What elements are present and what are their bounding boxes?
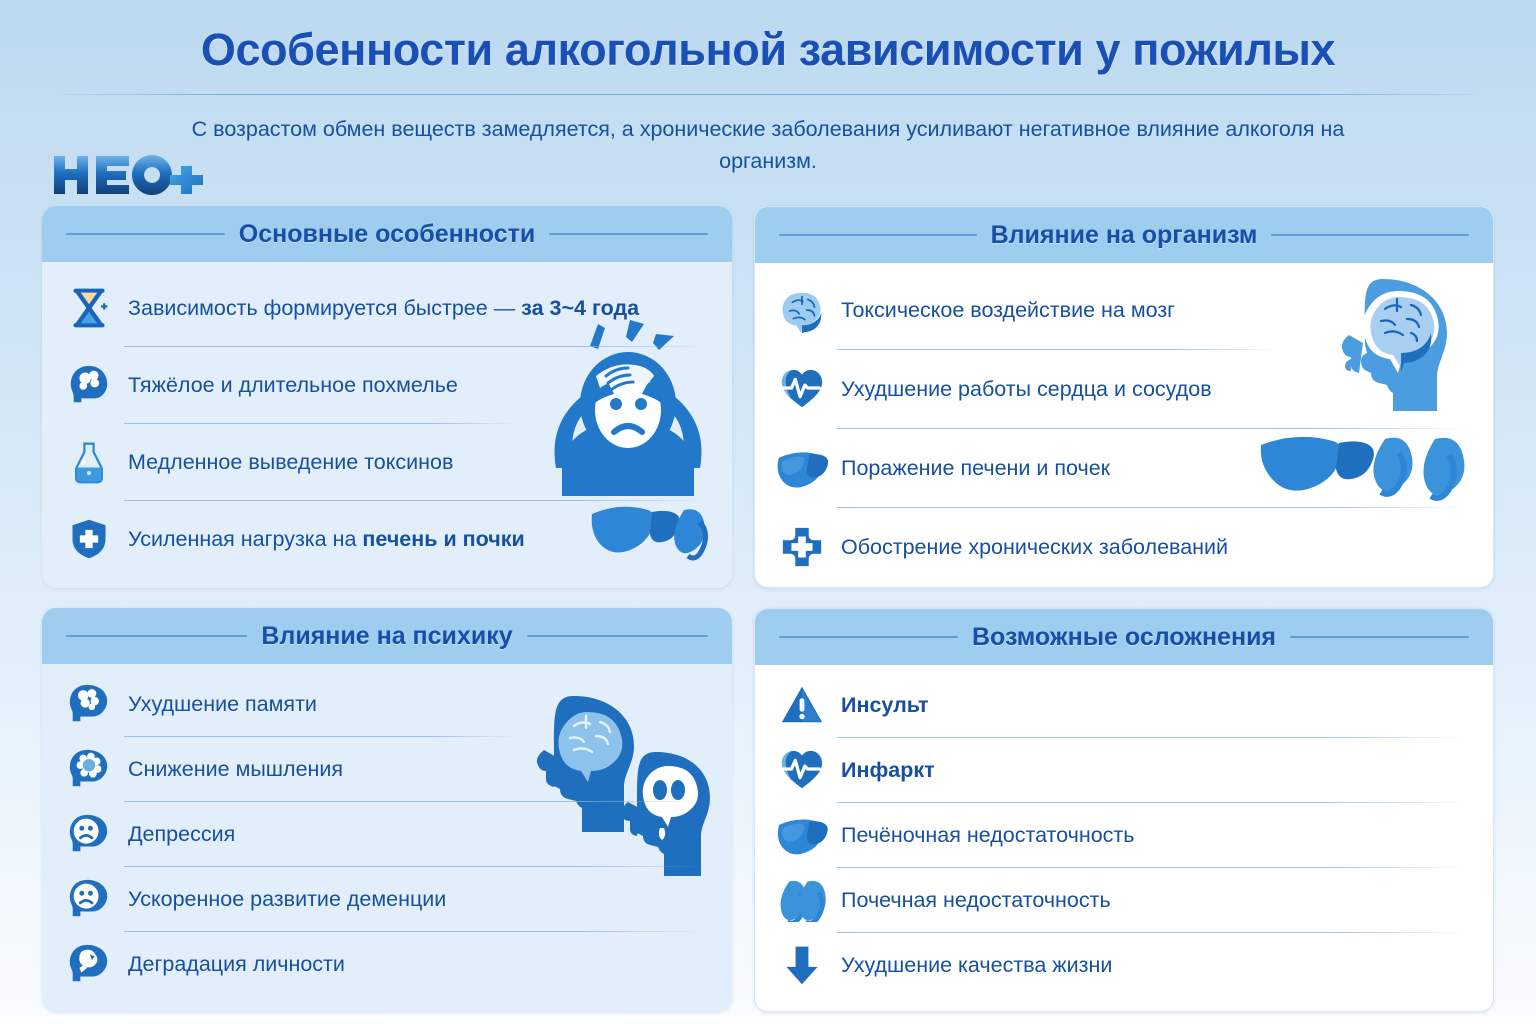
header-rule-left [779,234,977,236]
head-hangover-icon [62,358,116,412]
feature-text: Тяжёлое и длительное похмелье [128,372,458,399]
shield-cross-icon [62,512,116,566]
card-header: Возможные осложнения [755,609,1493,665]
complication-row: Ухудшение качества жизни [775,935,1467,995]
liver-icon [775,441,829,495]
card-body-effects: Влияние на организм [754,206,1494,588]
brain-icon [775,283,829,337]
neo-plus-logo [48,150,204,200]
liver-icon [775,808,829,862]
feature-row: Медленное выведение токсинов [62,426,706,498]
card-complications: Возможные осложнения Инсульт [754,608,1494,1012]
header-rule-left [66,233,225,235]
psyche-row: Ухудшение памяти [62,674,706,734]
feature-text: Зависимость формируется быстрее — за 3~4… [128,295,639,322]
card-header: Влияние на психику [42,608,732,664]
row-divider [124,866,706,867]
head-thinking-decline-icon [62,742,116,796]
card-body: Инсульт Инфаркт [755,665,1493,1007]
psyche-text: Снижение мышления [128,756,343,783]
psyche-row: Деградация личности [62,934,706,994]
psyche-text: Депрессия [128,821,235,848]
complication-text: Инсульт [841,692,929,719]
complication-row: Инфаркт [775,740,1467,800]
row-divider [124,736,516,737]
complication-text: Печёночная недостаточность [841,822,1134,849]
header-rule-left [66,635,247,637]
card-body: Зависимость формируется быстрее — за 3~4… [42,262,732,588]
card-title: Возможные осложнения [972,623,1276,652]
row-divider [837,802,1467,803]
psyche-text: Деградация личности [128,951,345,978]
heart-pulse-icon [775,743,829,797]
head-degradation-icon [62,937,116,991]
effect-row: Токсическое воздействие на мозг [775,273,1467,347]
feature-row: Тяжёлое и длительное похмелье [62,349,706,421]
complication-row: Печёночная недостаточность [775,805,1467,865]
feature-text: Усиленная нагрузка на печень и почки [128,526,525,553]
flask-icon [62,435,116,489]
header-rule-right [527,635,708,637]
card-body: Ухудшение памяти [42,664,732,1012]
row-divider [124,423,516,424]
psyche-row: Снижение мышления [62,739,706,799]
medical-cross-icon [775,520,829,574]
header-rule-right [1290,636,1469,638]
card-grid: Основные особенности [0,206,1536,1012]
effect-text: Ухудшение работы сердца и сосудов [841,376,1212,403]
warning-triangle-icon [775,678,829,732]
complication-text: Ухудшение качества жизни [841,952,1112,979]
row-divider [837,349,1277,350]
effect-row: Обострение хронических заболеваний [775,510,1467,584]
head-memory-loss-icon [62,677,116,731]
row-divider [837,737,1467,738]
card-body: Токсическое воздействие на мозг Ухудшени… [755,263,1493,583]
feature-row: Зависимость формируется быстрее — за 3~4… [62,272,706,344]
head-dementia-icon [62,872,116,926]
row-divider [124,500,706,501]
effect-row: Ухудшение работы сердца и сосудов [775,352,1467,426]
card-header: Влияние на организм [755,207,1493,263]
card-main-features: Основные особенности [42,206,732,588]
page-title: Особенности алкогольной зависимости у по… [0,26,1536,75]
header-rule-left [779,636,958,638]
complication-row: Инсульт [775,675,1467,735]
card-title: Влияние на организм [991,221,1258,250]
effect-row: Поражение печени и почек [775,431,1467,505]
row-divider [837,867,1467,868]
card-psyche-effects: Влияние на психику [42,608,732,1012]
page-header: Особенности алкогольной зависимости у по… [0,0,1536,178]
title-divider [47,94,1489,95]
hourglass-icon [62,281,116,335]
page-subtitle: С возрастом обмен веществ замедляется, а… [178,113,1358,178]
row-divider [124,346,706,347]
complication-text: Почечная недостаточность [841,887,1111,914]
kidneys-icon [775,873,829,927]
psyche-row: Депрессия [62,804,706,864]
effect-text: Поражение печени и почек [841,455,1110,482]
row-divider [837,932,1467,933]
header-rule-right [549,233,708,235]
effect-text: Токсическое воздействие на мозг [841,297,1175,324]
heart-pulse-icon [775,362,829,416]
effect-text: Обострение хронических заболеваний [841,534,1228,561]
feature-row: Усиленная нагрузка на печень и почки [62,503,706,575]
card-title: Основные особенности [239,220,536,249]
down-arrow-icon [775,938,829,992]
card-title: Влияние на психику [261,622,512,651]
psyche-text: Ускоренное развитие деменции [128,886,446,913]
header-rule-right [1271,234,1469,236]
row-divider [837,507,1467,508]
complication-text: Инфаркт [841,757,935,784]
complication-row: Почечная недостаточность [775,870,1467,930]
row-divider [124,931,706,932]
psyche-row: Ускоренное развитие деменции [62,869,706,929]
head-sad-face-icon [62,807,116,861]
feature-text: Медленное выведение токсинов [128,449,453,476]
card-header: Основные особенности [42,206,732,262]
psyche-text: Ухудшение памяти [128,691,317,718]
row-divider [124,801,706,802]
row-divider [837,428,1467,429]
